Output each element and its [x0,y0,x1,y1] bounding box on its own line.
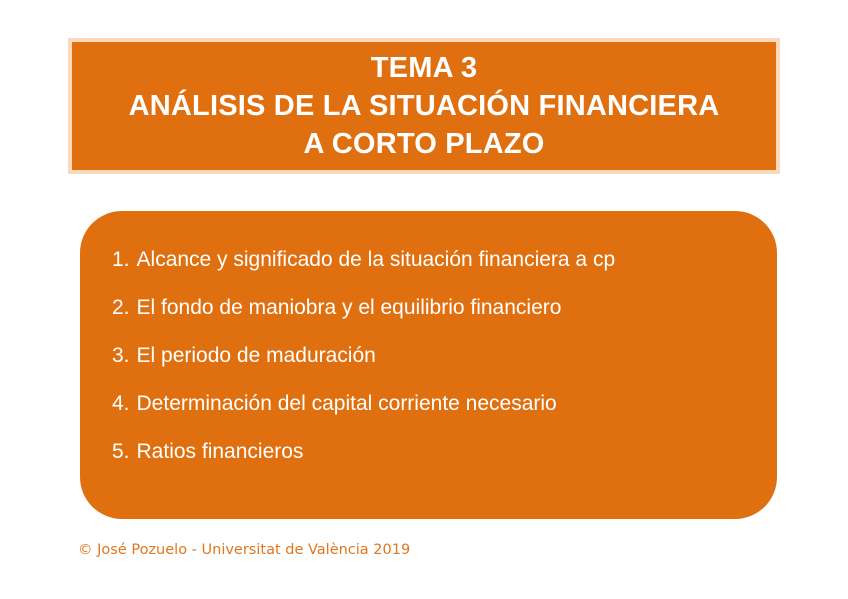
agenda-item-number: 3. [112,343,130,368]
agenda-item-label: Ratios financieros [137,439,304,464]
agenda-item-number: 5. [112,439,130,464]
agenda-item-4: 4. Determinación del capital corriente n… [112,391,759,439]
agenda-list: 1. Alcance y significado de la situación… [112,247,759,487]
footer-credit: © José Pozuelo - Universitat de València… [78,541,410,559]
agenda-item-label: El periodo de maduración [137,343,376,368]
title-banner: TEMA 3 ANÁLISIS DE LA SITUACIÓN FINANCIE… [68,38,780,174]
agenda-item-2: 2. El fondo de maniobra y el equilibrio … [112,295,759,343]
agenda-item-1: 1. Alcance y significado de la situación… [112,247,759,295]
agenda-item-label: Determinación del capital corriente nece… [137,391,557,416]
agenda-item-3: 3. El periodo de maduración [112,343,759,391]
agenda-box: 1. Alcance y significado de la situación… [80,211,777,519]
title-line-2: ANÁLISIS DE LA SITUACIÓN FINANCIERA [129,87,720,125]
title-line-3: A CORTO PLAZO [303,125,544,163]
agenda-item-label: El fondo de maniobra y el equilibrio fin… [137,295,562,320]
agenda-item-label: Alcance y significado de la situación fi… [137,247,616,272]
title-line-1: TEMA 3 [371,49,477,87]
agenda-item-number: 1. [112,247,130,272]
slide-canvas: TEMA 3 ANÁLISIS DE LA SITUACIÓN FINANCIE… [0,0,848,599]
agenda-item-number: 2. [112,295,130,320]
agenda-item-number: 4. [112,391,130,416]
agenda-item-5: 5. Ratios financieros [112,439,759,487]
